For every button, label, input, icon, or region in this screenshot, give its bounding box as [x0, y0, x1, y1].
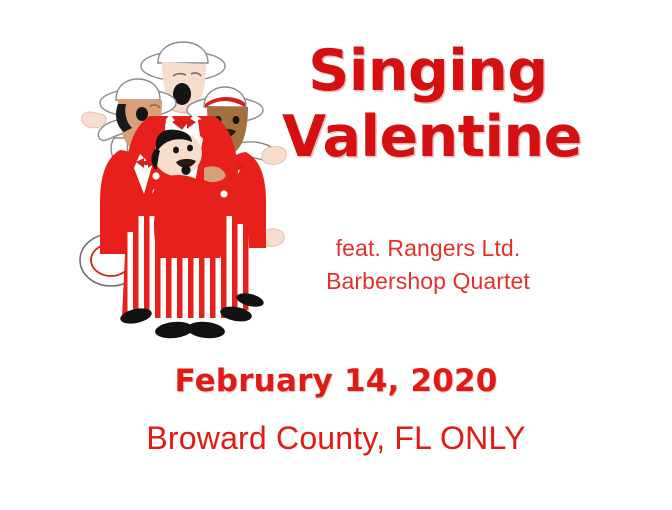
footer-block: February 14, 2020 Broward County, FL ONL…	[0, 366, 672, 454]
barbershop-quartet-illustration	[78, 18, 294, 340]
subtitle-block: feat. Rangers Ltd. Barbershop Quartet	[282, 232, 574, 297]
subtitle-line-1: feat. Rangers Ltd.	[282, 232, 574, 265]
poster-canvas: Singing Valentine feat. Rangers Ltd. Bar…	[0, 0, 672, 510]
jacket-tail	[154, 208, 226, 258]
event-date: February 14, 2020	[0, 366, 672, 397]
headline-line-2: Valentine	[282, 104, 574, 170]
headline-block: Singing Valentine	[282, 38, 574, 170]
subtitle-line-2: Barbershop Quartet	[282, 265, 574, 298]
event-location: Broward County, FL ONLY	[0, 422, 672, 454]
headline-line-1: Singing	[282, 38, 574, 104]
